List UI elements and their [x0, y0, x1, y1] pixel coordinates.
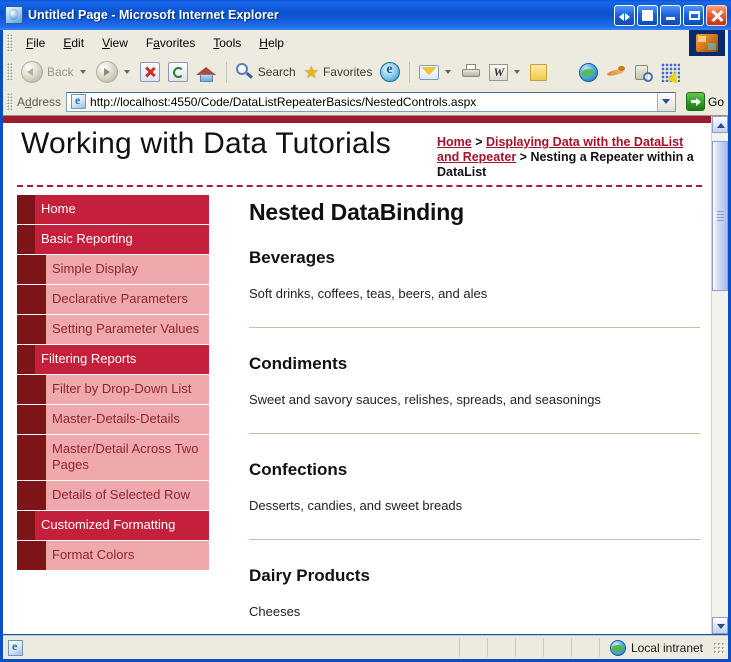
category-item: ConfectionsDesserts, candies, and sweet …: [249, 460, 700, 540]
refresh-button[interactable]: [164, 59, 192, 85]
page-top-band: [3, 116, 712, 123]
status-cell-1: [460, 638, 488, 657]
address-label: Address: [17, 95, 61, 109]
category-divider: [249, 327, 700, 328]
category-item: CondimentsSweet and savory sauces, relis…: [249, 354, 700, 434]
sidebar-item-label: Master/Detail Across Two Pages: [52, 441, 198, 472]
sidebar-item-stripe: [17, 405, 46, 434]
sidebar-item-declarative-parameters[interactable]: Declarative Parameters: [17, 285, 209, 315]
resize-grip[interactable]: [713, 642, 725, 654]
sidebar-item-details-of-selected-row[interactable]: Details of Selected Row: [17, 481, 209, 511]
print-button[interactable]: [457, 59, 485, 85]
menu-edit[interactable]: Edit: [54, 33, 93, 53]
browser-window: Untitled Page - Microsoft Internet Explo…: [0, 0, 731, 662]
sidebar-item-home[interactable]: Home: [17, 195, 209, 225]
sidebar-item-label: Declarative Parameters: [52, 291, 188, 306]
web-page: Working with Data Tutorials Home > Displ…: [3, 116, 712, 634]
page-title: Nested DataBinding: [249, 199, 700, 226]
scroll-up-button[interactable]: [712, 116, 728, 133]
window-controls: [614, 5, 727, 26]
address-bar: Address http://localhost:4550/Code/DataL…: [3, 88, 728, 115]
category-name: Beverages: [249, 248, 700, 268]
category-name: Dairy Products: [249, 566, 700, 586]
scroll-down-button[interactable]: [712, 617, 728, 634]
star-icon: ★: [304, 64, 319, 81]
inspect-button[interactable]: [630, 59, 657, 85]
ie-page-icon: [5, 6, 23, 24]
dotted-highlight-icon: [661, 63, 680, 82]
sidebar-item-stripe: [17, 541, 46, 570]
sidebar-item-master-details-details[interactable]: Master-Details-Details: [17, 405, 209, 435]
breadcrumb: Home > Displaying Data with the DataList…: [437, 135, 699, 180]
toolbar-gap: [556, 62, 570, 83]
title-bar: Untitled Page - Microsoft Internet Explo…: [0, 0, 731, 30]
export-button[interactable]: [637, 5, 658, 26]
favorites-button[interactable]: ★ Favorites: [300, 59, 377, 85]
page-body: HomeBasic ReportingSimple DisplayDeclara…: [3, 187, 712, 634]
sidebar-item-label: Simple Display: [52, 261, 138, 276]
category-description: Soft drinks, coffees, teas, beers, and a…: [249, 286, 700, 301]
mail-icon: [419, 65, 439, 80]
status-message: [28, 638, 460, 657]
address-input[interactable]: http://localhost:4550/Code/DataListRepea…: [66, 92, 676, 112]
word-icon: W: [489, 64, 508, 81]
menu-view[interactable]: View: [93, 33, 137, 53]
sidebar-item-label: Basic Reporting: [41, 231, 133, 246]
sidebar-item-stripe: [17, 375, 46, 404]
status-cell-5: [572, 638, 600, 657]
category-name: Condiments: [249, 354, 700, 374]
sidebar-item-stripe: [17, 511, 35, 540]
sidebar-nav: HomeBasic ReportingSimple DisplayDeclara…: [17, 195, 209, 571]
menu-file[interactable]: File: [17, 33, 54, 53]
search-button[interactable]: Search: [232, 59, 300, 85]
zone-label: Local intranet: [631, 641, 703, 655]
toolbar: Back Search ★ Favorites: [3, 56, 728, 88]
category-divider: [249, 539, 700, 540]
sidebar-item-format-colors[interactable]: Format Colors: [17, 541, 209, 571]
go-label: Go: [708, 95, 724, 109]
category-list: BeveragesSoft drinks, coffees, teas, bee…: [249, 248, 700, 619]
sidebar-item-stripe: [17, 481, 46, 510]
zone-globe-icon: [610, 640, 626, 656]
sidebar-item-stripe: [17, 315, 46, 344]
back-button[interactable]: Back: [17, 59, 92, 85]
media-button[interactable]: [376, 59, 404, 85]
forward-button[interactable]: [92, 59, 136, 85]
main-content: Nested DataBinding BeveragesSoft drinks,…: [249, 187, 700, 634]
menu-favorites[interactable]: Favorites: [137, 33, 204, 53]
notes-button[interactable]: [526, 59, 551, 85]
search-icon: [236, 63, 254, 81]
printer-icon: [461, 64, 481, 80]
stop-button[interactable]: [136, 59, 164, 85]
menu-help[interactable]: Help: [250, 33, 293, 53]
sidebar-item-stripe: [17, 345, 35, 374]
note-icon: [530, 64, 547, 81]
search-label: Search: [258, 65, 296, 79]
window-title: Untitled Page - Microsoft Internet Explo…: [28, 8, 614, 22]
menu-grip-handle[interactable]: [7, 34, 13, 52]
toolbar-separator-2: [409, 62, 410, 83]
sidebar-item-master-detail-across-two-pages[interactable]: Master/Detail Across Two Pages: [17, 435, 209, 481]
sidebar-item-stripe: [17, 285, 46, 314]
sidebar-item-customized-formatting[interactable]: Customized Formatting: [17, 511, 209, 541]
highlight-button[interactable]: [657, 59, 684, 85]
category-description: Desserts, candies, and sweet breads: [249, 498, 700, 513]
category-description: Cheeses: [249, 604, 700, 619]
sidebar-item-stripe: [17, 255, 46, 284]
sidebar-item-basic-reporting[interactable]: Basic Reporting: [17, 225, 209, 255]
forward-arrow-icon: [96, 61, 118, 83]
address-dropdown-icon[interactable]: [657, 93, 675, 111]
sidebar-item-stripe: [17, 195, 35, 224]
category-description: Sweet and savory sauces, relishes, sprea…: [249, 392, 700, 407]
sidebar-item-stripe: [17, 435, 46, 480]
globe-icon: [579, 63, 598, 82]
home-button[interactable]: [192, 59, 221, 85]
status-cell-2: [488, 638, 516, 657]
sidebar-item-label: Customized Formatting: [41, 517, 175, 532]
media-icon: [380, 62, 400, 82]
sidebar-item-label: Master-Details-Details: [52, 411, 180, 426]
sidebar-item-label: Filtering Reports: [41, 351, 136, 366]
minimize-button[interactable]: [660, 5, 681, 26]
address-grip-handle[interactable]: [7, 93, 13, 111]
page-header: Working with Data Tutorials Home > Displ…: [3, 123, 712, 185]
messenger-button[interactable]: [575, 59, 602, 85]
research-button[interactable]: [602, 59, 630, 85]
status-bar: Local intranet: [3, 635, 728, 659]
toolbar-grip-handle[interactable]: [7, 63, 13, 81]
site-title: Working with Data Tutorials: [21, 127, 391, 161]
edit-dropdown-icon[interactable]: [514, 70, 520, 74]
page-icon: [71, 94, 86, 109]
sidebar-item-stripe: [17, 225, 35, 254]
category-divider: [249, 433, 700, 434]
status-cell-3: [516, 638, 544, 657]
sidebar-item-label: Format Colors: [52, 547, 134, 562]
security-zone[interactable]: Local intranet: [600, 640, 713, 656]
mail-button[interactable]: [415, 59, 457, 85]
refresh-icon: [168, 62, 188, 82]
bird-icon: [606, 64, 626, 80]
breadcrumb-home-link[interactable]: Home: [437, 135, 472, 149]
go-button[interactable]: Go: [682, 92, 728, 111]
category-name: Confections: [249, 460, 700, 480]
sidebar-item-setting-parameter-values[interactable]: Setting Parameter Values: [17, 315, 209, 345]
sidebar-item-label: Filter by Drop-Down List: [52, 381, 191, 396]
magnify-document-icon: [634, 63, 653, 82]
back-label: Back: [47, 65, 74, 79]
breadcrumb-sep-2: >: [516, 150, 530, 164]
page-scrollbar-vertical[interactable]: [711, 116, 728, 634]
sidebar-item-label: Setting Parameter Values: [52, 321, 199, 336]
home-icon: [196, 63, 217, 82]
menu-tools[interactable]: Tools: [204, 33, 250, 53]
mail-dropdown-icon[interactable]: [445, 70, 451, 74]
close-button[interactable]: [706, 5, 727, 26]
status-page-icon: [8, 640, 23, 656]
page-viewport: Working with Data Tutorials Home > Displ…: [3, 115, 728, 634]
back-dropdown-icon[interactable]: [80, 70, 86, 74]
ie-brand-logo: [689, 30, 725, 56]
category-item: Dairy ProductsCheeses: [249, 566, 700, 619]
address-url-text: http://localhost:4550/Code/DataListRepea…: [90, 95, 657, 109]
menu-bar: File Edit View Favorites Tools Help: [3, 30, 728, 56]
edit-word-button[interactable]: W: [485, 59, 526, 85]
favorites-label: Favorites: [323, 65, 372, 79]
sidebar-item-filtering-reports[interactable]: Filtering Reports: [17, 345, 209, 375]
maximize-button[interactable]: [683, 5, 704, 26]
sidebar-item-filter-by-drop-down-list[interactable]: Filter by Drop-Down List: [17, 375, 209, 405]
forward-dropdown-icon[interactable]: [124, 70, 130, 74]
sidebar-item-label: Details of Selected Row: [52, 487, 190, 502]
scrollbar-thumb[interactable]: [712, 141, 728, 291]
category-item: BeveragesSoft drinks, coffees, teas, bee…: [249, 248, 700, 328]
status-cell-4: [544, 638, 572, 657]
go-arrow-icon: [686, 92, 705, 111]
back-arrow-icon: [21, 61, 43, 83]
sidebar-item-label: Home: [41, 201, 76, 216]
restore-left-right-button[interactable]: [614, 5, 635, 26]
stop-icon: [140, 62, 160, 82]
toolbar-separator: [226, 62, 227, 83]
breadcrumb-sep-1: >: [472, 135, 486, 149]
sidebar-item-simple-display[interactable]: Simple Display: [17, 255, 209, 285]
